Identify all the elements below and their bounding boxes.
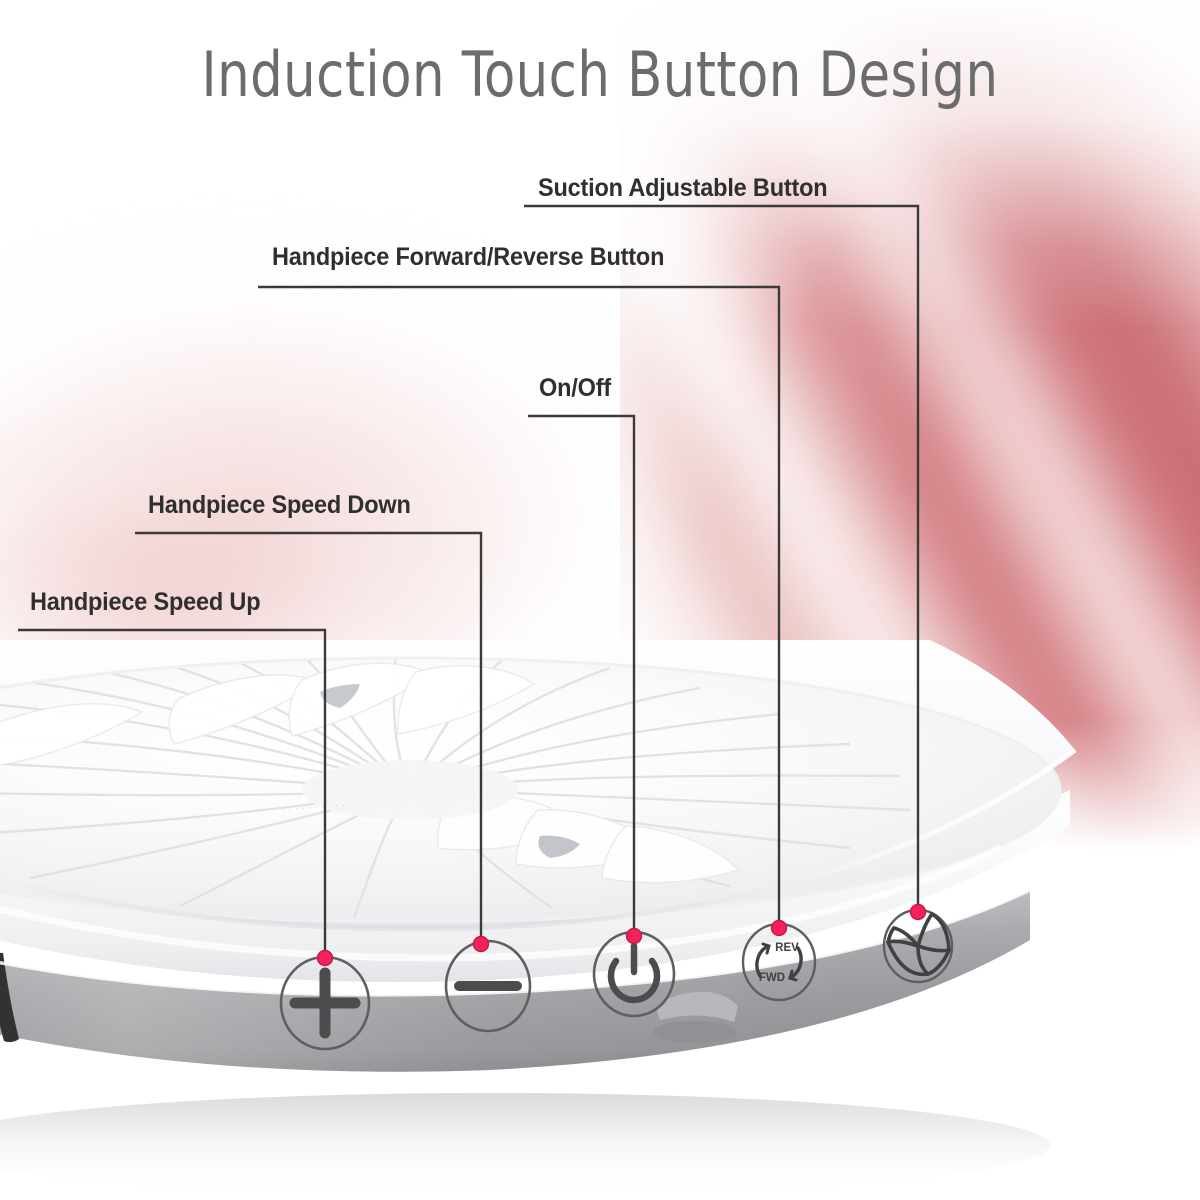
- marker-dot-plus: [318, 951, 333, 966]
- marker-dot-power: [627, 929, 642, 944]
- marker-dot-rev-fwd: [772, 921, 787, 936]
- callout-label-handpiece-speed-up: Handpiece Speed Up: [30, 588, 260, 617]
- callout-marker-dots: [318, 905, 926, 966]
- callout-label-on-off: On/Off: [539, 374, 611, 403]
- callout-label-handpiece-speed-down: Handpiece Speed Down: [148, 491, 411, 520]
- marker-dot-suction: [911, 905, 926, 920]
- leader-line-handpiece-forward-reverse: [258, 287, 779, 928]
- leader-line-handpiece-speed-up: [18, 630, 325, 958]
- callout-label-handpiece-forward-reverse: Handpiece Forward/Reverse Button: [272, 243, 664, 272]
- leader-line-suction-adjustable: [524, 206, 918, 912]
- page-title: Induction Touch Button Design: [48, 38, 1152, 111]
- marker-dot-minus: [474, 937, 489, 952]
- leader-line-on-off: [528, 416, 634, 936]
- callout-label-suction-adjustable: Suction Adjustable Button: [538, 174, 827, 203]
- diagram-canvas: · · · · · · · · · ·: [0, 0, 1200, 1200]
